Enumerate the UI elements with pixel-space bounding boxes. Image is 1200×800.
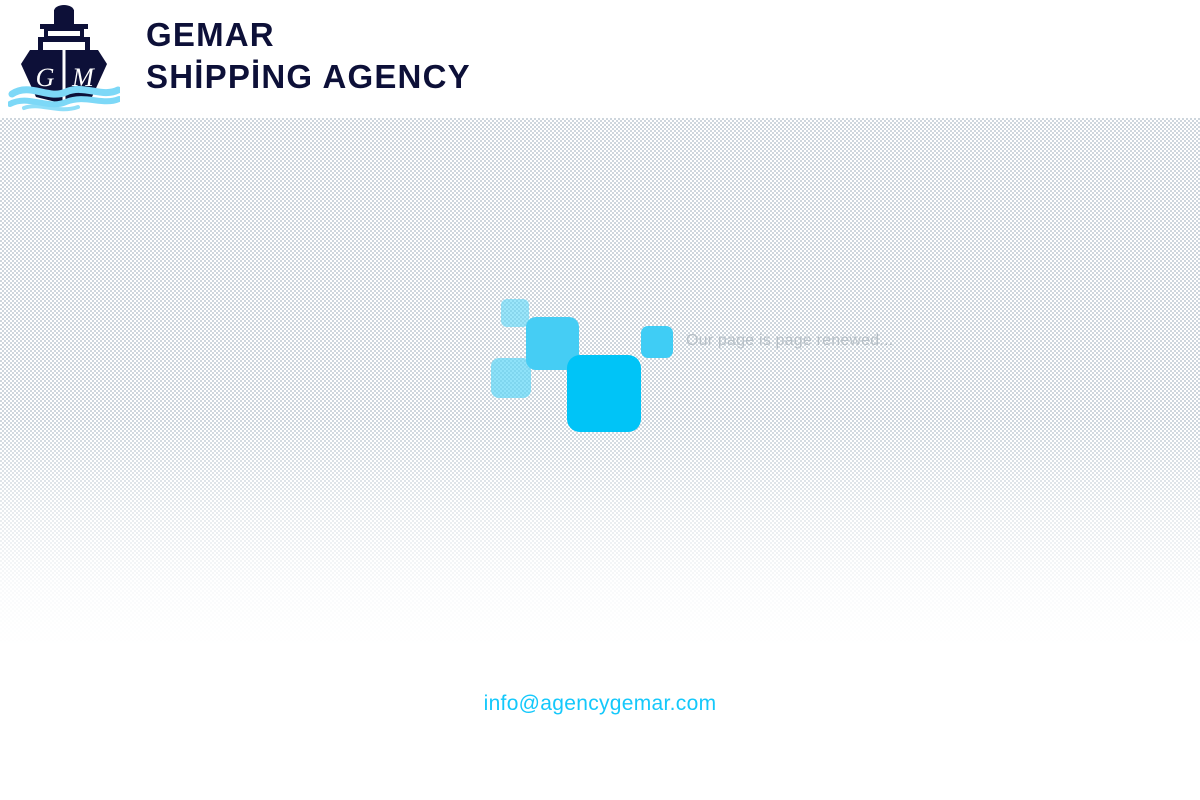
contact-email-link[interactable]: info@agencygemar.com [0,692,1200,716]
loader-square-right [641,326,673,358]
brand-logo[interactable]: G M GEMAR SHİPPİNG AGENCY [8,2,471,112]
loading-squares-icon [0,0,1200,800]
brand-wordmark: GEMAR SHİPPİNG AGENCY [146,18,471,93]
loader-square-big [567,355,641,432]
logo-monogram-g: G [36,63,55,92]
status-message: Our page is page renewed... [686,332,893,350]
loader-square-tiny [501,299,529,327]
page-root: G M GEMAR SHİPPİNG AGENCY Our pa [0,0,1200,800]
brand-line-2: SHİPPİNG AGENCY [146,60,471,93]
loader-square-left [491,358,531,398]
brand-line-1: GEMAR [146,18,471,51]
site-header: G M GEMAR SHİPPİNG AGENCY [0,0,1200,117]
ship-bow-logo-icon: G M [8,2,120,112]
